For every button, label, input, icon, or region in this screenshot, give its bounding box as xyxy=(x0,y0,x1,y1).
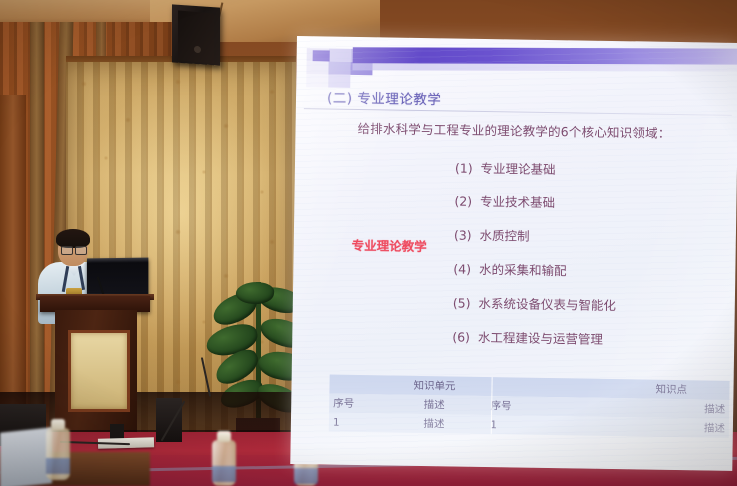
eyeglasses-icon xyxy=(75,246,87,255)
list-item-number: (1) xyxy=(455,160,473,175)
slide-heading-title: 专业理论教学 xyxy=(357,91,441,108)
list-item-number: (6) xyxy=(452,329,470,344)
projection-screen: (二) 专业理论教学 给排水科学与工程专业的理论教学的6个核心知识领域： (1)… xyxy=(290,36,737,471)
list-item: (6) 水工程建设与运营管理 xyxy=(452,326,603,347)
speaker-grille xyxy=(178,10,214,63)
list-item: (2) 专业技术基础 xyxy=(454,190,555,211)
list-item-number: (3) xyxy=(454,227,472,242)
list-item: (3) 水质控制 xyxy=(454,224,530,244)
door-frame xyxy=(0,95,26,425)
speaker-driver xyxy=(194,46,201,54)
heading-divider xyxy=(304,108,732,116)
list-item-number: (4) xyxy=(453,261,471,276)
screen-glare xyxy=(290,366,733,471)
list-item-label: 水系统设备仪表与智能化 xyxy=(478,296,616,313)
list-item-number: (5) xyxy=(453,295,471,310)
equipment-box xyxy=(156,398,182,442)
slide-lead-text: 给排水科学与工程专业的理论教学的6个核心知识领域： xyxy=(357,118,670,142)
list-item-label: 水的采集和输配 xyxy=(479,262,567,278)
wall-strip xyxy=(30,22,44,442)
slide-heading: (二) 专业理论教学 xyxy=(327,86,442,108)
list-item-label: 专业理论基础 xyxy=(480,161,555,177)
list-item: (4) 水的采集和输配 xyxy=(453,258,566,279)
eyeglasses-icon xyxy=(61,246,73,255)
list-item-number: (2) xyxy=(454,193,472,208)
slide-banner-accent xyxy=(352,63,737,71)
list-item: (5) 水系统设备仪表与智能化 xyxy=(453,292,616,314)
list-item-label: 专业技术基础 xyxy=(480,194,555,210)
slide-heading-number: (二) xyxy=(327,90,353,106)
foreground-laptop xyxy=(0,427,52,486)
list-item-label: 水质控制 xyxy=(479,228,529,244)
screenshot-root: (二) 专业理论教学 给排水科学与工程专业的理论教学的6个核心知识领域： (1)… xyxy=(0,0,737,486)
list-item: (1) 专业理论基础 xyxy=(455,157,556,178)
red-callout-label: 专业理论教学 xyxy=(352,235,427,255)
list-item-label: 水工程建设与运营管理 xyxy=(478,330,603,347)
slide-banner xyxy=(353,47,737,64)
podium-front-panel xyxy=(68,330,130,412)
